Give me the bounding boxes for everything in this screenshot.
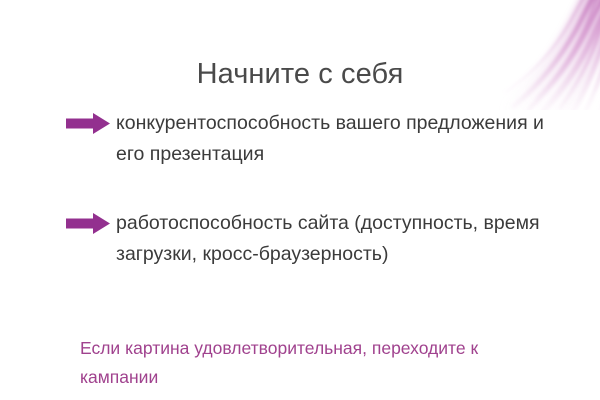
bullet-item: работоспособность сайта (доступность, вр… (0, 208, 600, 270)
watercolor-corner-flourish-icon (456, 0, 600, 110)
footer-note: Если картина удовлетворительная, переход… (80, 334, 520, 392)
bullet-list: конкурентоспособность вашего предложения… (0, 108, 600, 270)
slide-title: Начните с себя (0, 57, 600, 91)
slide-canvas: Начните с себя конкурентоспособность ваш… (0, 0, 600, 400)
bullet-item-label: конкурентоспособность вашего предложения… (116, 108, 548, 170)
bullet-item: конкурентоспособность вашего предложения… (0, 108, 600, 170)
arrow-right-icon (66, 213, 110, 234)
bullet-item-label: работоспособность сайта (доступность, вр… (116, 208, 548, 270)
arrow-right-icon (66, 113, 110, 134)
